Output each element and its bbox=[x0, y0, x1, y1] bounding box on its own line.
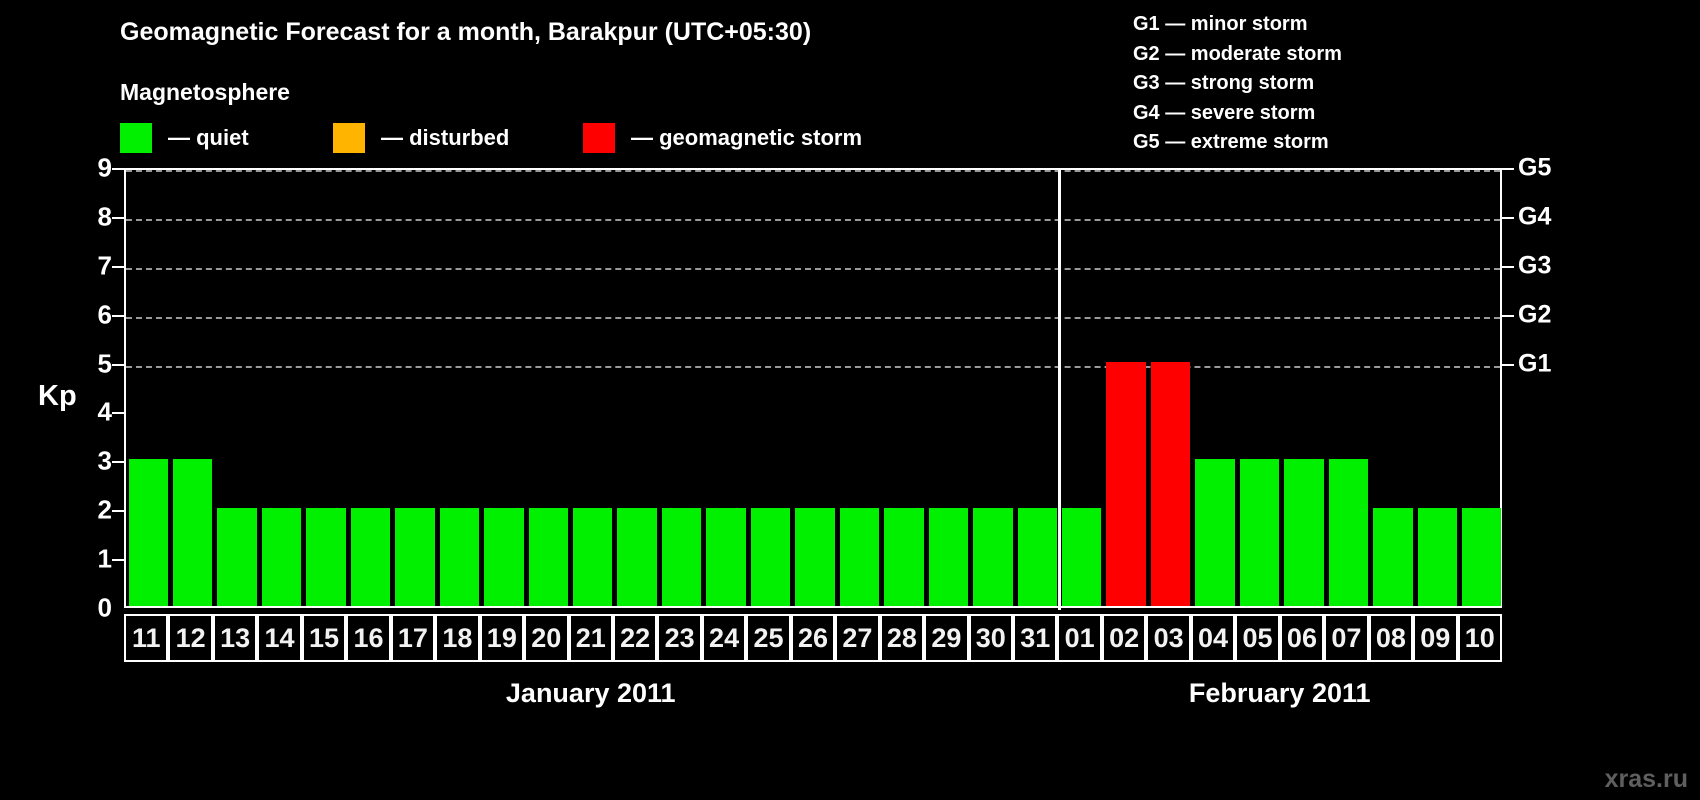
bar-day-09[interactable] bbox=[1418, 508, 1457, 606]
day-label-27[interactable]: 27 bbox=[835, 614, 879, 662]
day-label-22[interactable]: 22 bbox=[613, 614, 657, 662]
legend-label-geomagnetic-storm: — geomagnetic storm bbox=[631, 125, 862, 151]
legend-swatch-disturbed-icon bbox=[333, 123, 365, 153]
day-label-04[interactable]: 04 bbox=[1191, 614, 1235, 662]
right-tick-label-g4: G4 bbox=[1518, 202, 1551, 231]
day-label-02[interactable]: 02 bbox=[1102, 614, 1146, 662]
y-tick-mark-6 bbox=[112, 315, 124, 317]
y-tick-label-2: 2 bbox=[72, 495, 112, 526]
day-label-01[interactable]: 01 bbox=[1057, 614, 1101, 662]
bar-day-12[interactable] bbox=[173, 459, 212, 606]
day-label-03[interactable]: 03 bbox=[1146, 614, 1190, 662]
day-label-10[interactable]: 10 bbox=[1458, 614, 1502, 662]
y-tick-mark-7 bbox=[112, 266, 124, 268]
y-axis-label: Kp bbox=[38, 380, 77, 413]
y-tick-mark-9 bbox=[112, 168, 124, 170]
bar-day-30[interactable] bbox=[973, 508, 1012, 606]
g-scale-legend-row-g1: G1 — minor storm bbox=[1133, 10, 1342, 40]
magnetosphere-heading: Magnetosphere bbox=[120, 79, 290, 106]
bar-day-31[interactable] bbox=[1018, 508, 1057, 606]
day-label-07[interactable]: 07 bbox=[1324, 614, 1368, 662]
right-tick-label-g5: G5 bbox=[1518, 154, 1551, 183]
day-label-24[interactable]: 24 bbox=[702, 614, 746, 662]
day-label-05[interactable]: 05 bbox=[1235, 614, 1279, 662]
legend-swatch-quiet-icon bbox=[120, 123, 152, 153]
bar-day-17[interactable] bbox=[395, 508, 434, 606]
bar-day-08[interactable] bbox=[1373, 508, 1412, 606]
bar-day-19[interactable] bbox=[484, 508, 523, 606]
bar-day-18[interactable] bbox=[440, 508, 479, 606]
day-label-09[interactable]: 09 bbox=[1413, 614, 1457, 662]
right-tick-mark-g2 bbox=[1502, 315, 1514, 317]
bar-day-28[interactable] bbox=[884, 508, 923, 606]
day-label-23[interactable]: 23 bbox=[657, 614, 701, 662]
page-title: Geomagnetic Forecast for a month, Barakp… bbox=[120, 18, 811, 47]
bar-day-07[interactable] bbox=[1329, 459, 1368, 606]
legend-label-disturbed: — disturbed bbox=[381, 125, 509, 151]
plot-inner bbox=[126, 170, 1500, 606]
day-label-30[interactable]: 30 bbox=[969, 614, 1013, 662]
day-label-06[interactable]: 06 bbox=[1280, 614, 1324, 662]
bar-day-26[interactable] bbox=[795, 508, 834, 606]
bar-day-25[interactable] bbox=[751, 508, 790, 606]
right-tick-label-g1: G1 bbox=[1518, 349, 1551, 378]
month-separator bbox=[1058, 168, 1061, 610]
day-label-13[interactable]: 13 bbox=[213, 614, 257, 662]
g-scale-legend: G1 — minor storm G2 — moderate storm G3 … bbox=[1133, 10, 1342, 158]
day-label-18[interactable]: 18 bbox=[435, 614, 479, 662]
y-tick-label-4: 4 bbox=[72, 397, 112, 428]
day-label-16[interactable]: 16 bbox=[346, 614, 390, 662]
legend-swatch-geomagnetic-storm-icon bbox=[583, 123, 615, 153]
month-caption-february: February 2011 bbox=[1057, 678, 1502, 709]
bars-layer bbox=[126, 170, 1500, 606]
day-label-20[interactable]: 20 bbox=[524, 614, 568, 662]
day-label-26[interactable]: 26 bbox=[791, 614, 835, 662]
y-tick-mark-3 bbox=[112, 461, 124, 463]
y-tick-label-8: 8 bbox=[72, 201, 112, 232]
day-label-15[interactable]: 15 bbox=[302, 614, 346, 662]
day-label-29[interactable]: 29 bbox=[924, 614, 968, 662]
plot-area bbox=[124, 168, 1502, 608]
g-scale-legend-row-g2: G2 — moderate storm bbox=[1133, 40, 1342, 70]
bar-day-01[interactable] bbox=[1062, 508, 1101, 606]
bar-day-06[interactable] bbox=[1284, 459, 1323, 606]
day-label-28[interactable]: 28 bbox=[880, 614, 924, 662]
right-tick-mark-g1 bbox=[1502, 364, 1514, 366]
y-tick-label-9: 9 bbox=[72, 153, 112, 184]
right-tick-mark-g4 bbox=[1502, 217, 1514, 219]
legend-label-quiet: — quiet bbox=[168, 125, 249, 151]
g-scale-legend-row-g3: G3 — strong storm bbox=[1133, 69, 1342, 99]
bar-day-02[interactable] bbox=[1106, 362, 1145, 606]
month-caption-january: January 2011 bbox=[124, 678, 1057, 709]
day-label-14[interactable]: 14 bbox=[257, 614, 301, 662]
g-scale-legend-row-g5: G5 — extreme storm bbox=[1133, 128, 1342, 158]
y-tick-label-3: 3 bbox=[72, 446, 112, 477]
bar-day-15[interactable] bbox=[306, 508, 345, 606]
y-tick-mark-5 bbox=[112, 364, 124, 366]
day-label-08[interactable]: 08 bbox=[1369, 614, 1413, 662]
day-label-12[interactable]: 12 bbox=[168, 614, 212, 662]
y-tick-mark-1 bbox=[112, 559, 124, 561]
y-tick-mark-8 bbox=[112, 217, 124, 219]
bar-day-27[interactable] bbox=[840, 508, 879, 606]
bar-day-10[interactable] bbox=[1462, 508, 1501, 606]
bar-day-23[interactable] bbox=[662, 508, 701, 606]
day-label-19[interactable]: 19 bbox=[480, 614, 524, 662]
bar-day-03[interactable] bbox=[1151, 362, 1190, 606]
day-label-17[interactable]: 17 bbox=[391, 614, 435, 662]
y-tick-label-7: 7 bbox=[72, 250, 112, 281]
watermark: xras.ru bbox=[1605, 765, 1688, 794]
g-scale-legend-row-g4: G4 — severe storm bbox=[1133, 99, 1342, 129]
bar-day-04[interactable] bbox=[1195, 459, 1234, 606]
y-tick-mark-4 bbox=[112, 412, 124, 414]
bar-day-21[interactable] bbox=[573, 508, 612, 606]
bar-day-16[interactable] bbox=[351, 508, 390, 606]
y-tick-label-5: 5 bbox=[72, 348, 112, 379]
right-tick-mark-g3 bbox=[1502, 266, 1514, 268]
day-label-11[interactable]: 11 bbox=[124, 614, 168, 662]
day-label-21[interactable]: 21 bbox=[569, 614, 613, 662]
legend-item-quiet: — quiet bbox=[120, 122, 249, 154]
legend-item-disturbed: — disturbed bbox=[333, 122, 509, 154]
y-tick-label-0: 0 bbox=[72, 593, 112, 624]
bar-day-11[interactable] bbox=[129, 459, 168, 606]
bar-day-24[interactable] bbox=[706, 508, 745, 606]
bar-day-20[interactable] bbox=[529, 508, 568, 606]
right-tick-label-g3: G3 bbox=[1518, 251, 1551, 280]
legend-item-geomagnetic-storm: — geomagnetic storm bbox=[583, 122, 862, 154]
right-tick-mark-g5 bbox=[1502, 168, 1514, 170]
bar-day-29[interactable] bbox=[929, 508, 968, 606]
y-tick-label-1: 1 bbox=[72, 544, 112, 575]
bar-day-14[interactable] bbox=[262, 508, 301, 606]
bar-day-13[interactable] bbox=[217, 508, 256, 606]
day-label-25[interactable]: 25 bbox=[746, 614, 790, 662]
y-tick-label-6: 6 bbox=[72, 299, 112, 330]
y-tick-mark-2 bbox=[112, 510, 124, 512]
bar-day-22[interactable] bbox=[617, 508, 656, 606]
bar-day-05[interactable] bbox=[1240, 459, 1279, 606]
day-label-31[interactable]: 31 bbox=[1013, 614, 1057, 662]
right-tick-label-g2: G2 bbox=[1518, 300, 1551, 329]
